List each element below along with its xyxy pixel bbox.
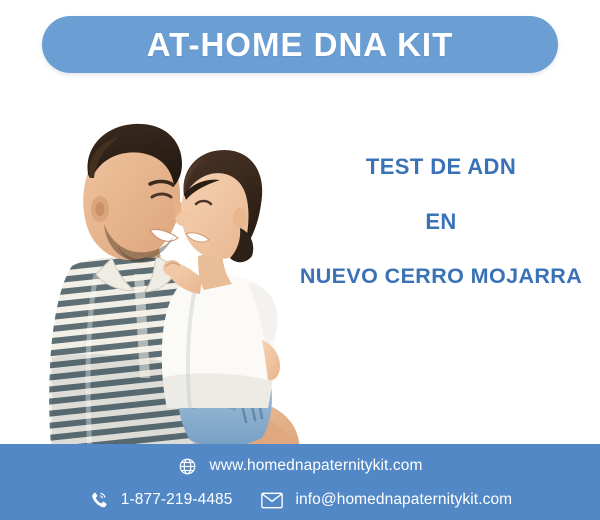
father-and-child-illustration (0, 78, 330, 453)
header-banner: AT-HOME DNA KIT (0, 0, 600, 88)
footer-website-label: www.homednapaternitykit.com (210, 458, 423, 474)
child-ear (233, 208, 247, 228)
envelope-icon (261, 492, 283, 509)
footer-email[interactable]: info@homednapaternitykit.com (261, 492, 513, 509)
footer-phone-label: 1-877-219-4485 (121, 492, 233, 508)
footer-phone[interactable]: 1-877-219-4485 (88, 490, 233, 510)
phone-icon (88, 490, 108, 510)
footer-row-phone-email: 1-877-219-4485 info@homednapaternitykit.… (0, 482, 600, 516)
banner-pill: AT-HOME DNA KIT (42, 16, 558, 73)
family-photo (0, 78, 330, 453)
banner-title: AT-HOME DNA KIT (147, 28, 453, 61)
footer-row-website: www.homednapaternitykit.com (0, 444, 600, 482)
footer-email-label: info@homednapaternitykit.com (296, 492, 513, 508)
footer-contact-bar: www.homednapaternitykit.com 1-877-219-44… (0, 444, 600, 520)
child-shirt (162, 274, 278, 410)
globe-icon (178, 457, 197, 476)
footer-website[interactable]: www.homednapaternitykit.com (178, 457, 423, 476)
